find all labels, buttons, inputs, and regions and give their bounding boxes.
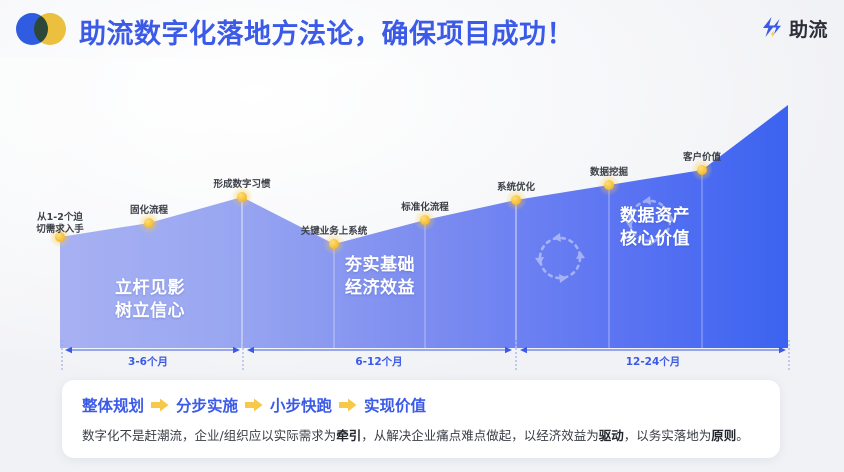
methodology-area-chart: 从1-2个迫 切需求入手 固化流程 形成数字习惯 关键业务上系统 标准化流程 系…	[0, 58, 844, 348]
timeline-label-2: 6-12个月	[355, 354, 402, 369]
logo-circles-icon	[16, 13, 74, 45]
timeline-axis: 3-6个月 6-12个月 12-24个月	[0, 340, 844, 374]
milestone-dot-core	[237, 192, 247, 202]
milestone-dot-core	[420, 215, 430, 225]
lightning-bolt-icon	[759, 16, 785, 42]
step-label-2: 分步实施	[176, 394, 238, 416]
timeline-label-1: 3-6个月	[128, 354, 168, 369]
process-steps: 整体规划 分步实施 小步快跑 实现价值	[82, 394, 760, 416]
summary-card: 整体规划 分步实施 小步快跑 实现价值 数字化不是赶潮流，企业/组织应以实际需求…	[62, 380, 780, 458]
milestone-dot-core	[511, 195, 521, 205]
milestone-label: 关键业务上系统	[301, 226, 368, 238]
step-label-1: 整体规划	[82, 394, 144, 416]
arrow-right-icon	[245, 398, 263, 412]
timeline-canvas	[0, 340, 844, 374]
milestone-label: 形成数字习惯	[213, 179, 270, 191]
milestone-label: 固化流程	[130, 205, 168, 217]
milestone-label: 数据挖掘	[590, 167, 628, 179]
arrow-right-icon	[151, 398, 169, 412]
step-label-3: 小步快跑	[270, 394, 332, 416]
brand-name: 助流	[789, 15, 828, 42]
milestone-label: 从1-2个迫 切需求入手	[36, 212, 84, 236]
milestone-dot-core	[144, 218, 154, 228]
milestone-dot-core	[604, 180, 614, 190]
summary-paragraph: 数字化不是赶潮流，企业/组织应以实际需求为牵引，从解决企业痛点难点做起，以经济效…	[82, 427, 760, 444]
page-title: 助流数字化落地方法论，确保项目成功！	[79, 12, 574, 51]
milestone-label: 客户价值	[683, 152, 721, 164]
arrow-right-icon	[339, 398, 357, 412]
milestone-dot-core	[329, 239, 339, 249]
phase-title-1: 立杆见影 树立信心	[115, 277, 185, 323]
phase-title-2: 夯实基础 经济效益	[345, 254, 415, 300]
header: 助流数字化落地方法论，确保项目成功！ 助流	[0, 0, 844, 58]
milestone-label: 标准化流程	[401, 202, 449, 214]
slide-root: 助流数字化落地方法论，确保项目成功！ 助流	[0, 0, 844, 472]
step-label-4: 实现价值	[364, 394, 426, 416]
phase-title-3: 数据资产 核心价值	[620, 205, 690, 251]
milestone-dot-core	[697, 165, 707, 175]
logo-circle-gold	[34, 13, 66, 45]
brand-lockup: 助流	[759, 15, 828, 42]
milestone-label: 系统优化	[497, 182, 535, 194]
timeline-label-3: 12-24个月	[626, 354, 681, 369]
